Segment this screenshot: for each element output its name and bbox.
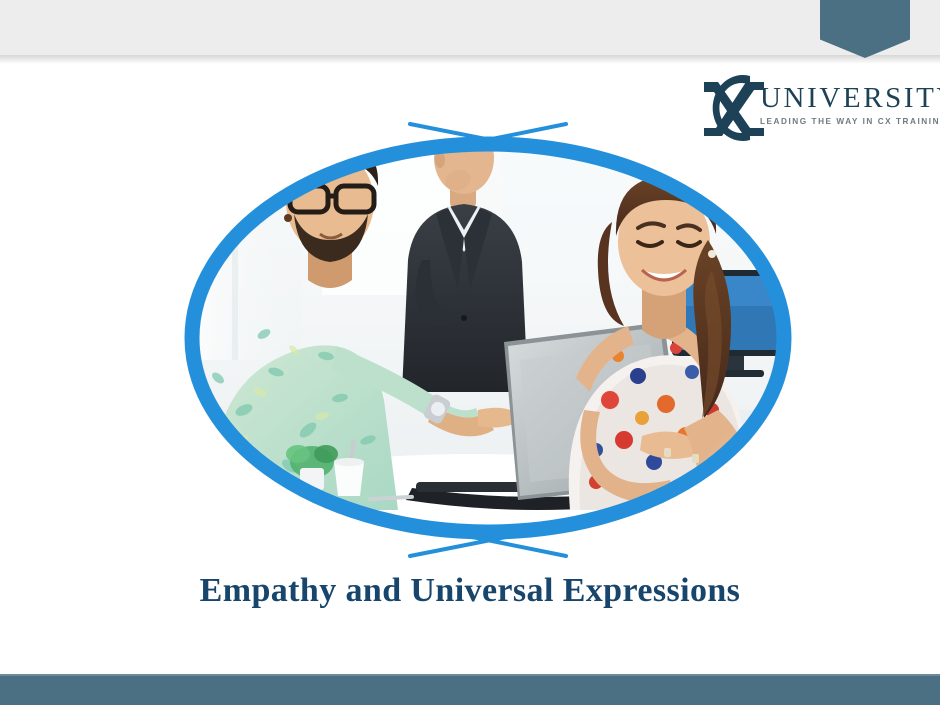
page-title: Empathy and Universal Expressions [0, 572, 940, 610]
photo-content [172, 110, 804, 570]
logo-wordmark: UNIVERSITY [760, 84, 928, 113]
slide-canvas: UNIVERSITY LEADING THE WAY IN CX TRAININ… [0, 0, 940, 705]
header-band-shadow [0, 55, 940, 64]
header-band [0, 0, 940, 55]
oval-photo-frame [172, 110, 804, 570]
footer-band [0, 676, 940, 705]
table-glasses [760, 475, 798, 489]
